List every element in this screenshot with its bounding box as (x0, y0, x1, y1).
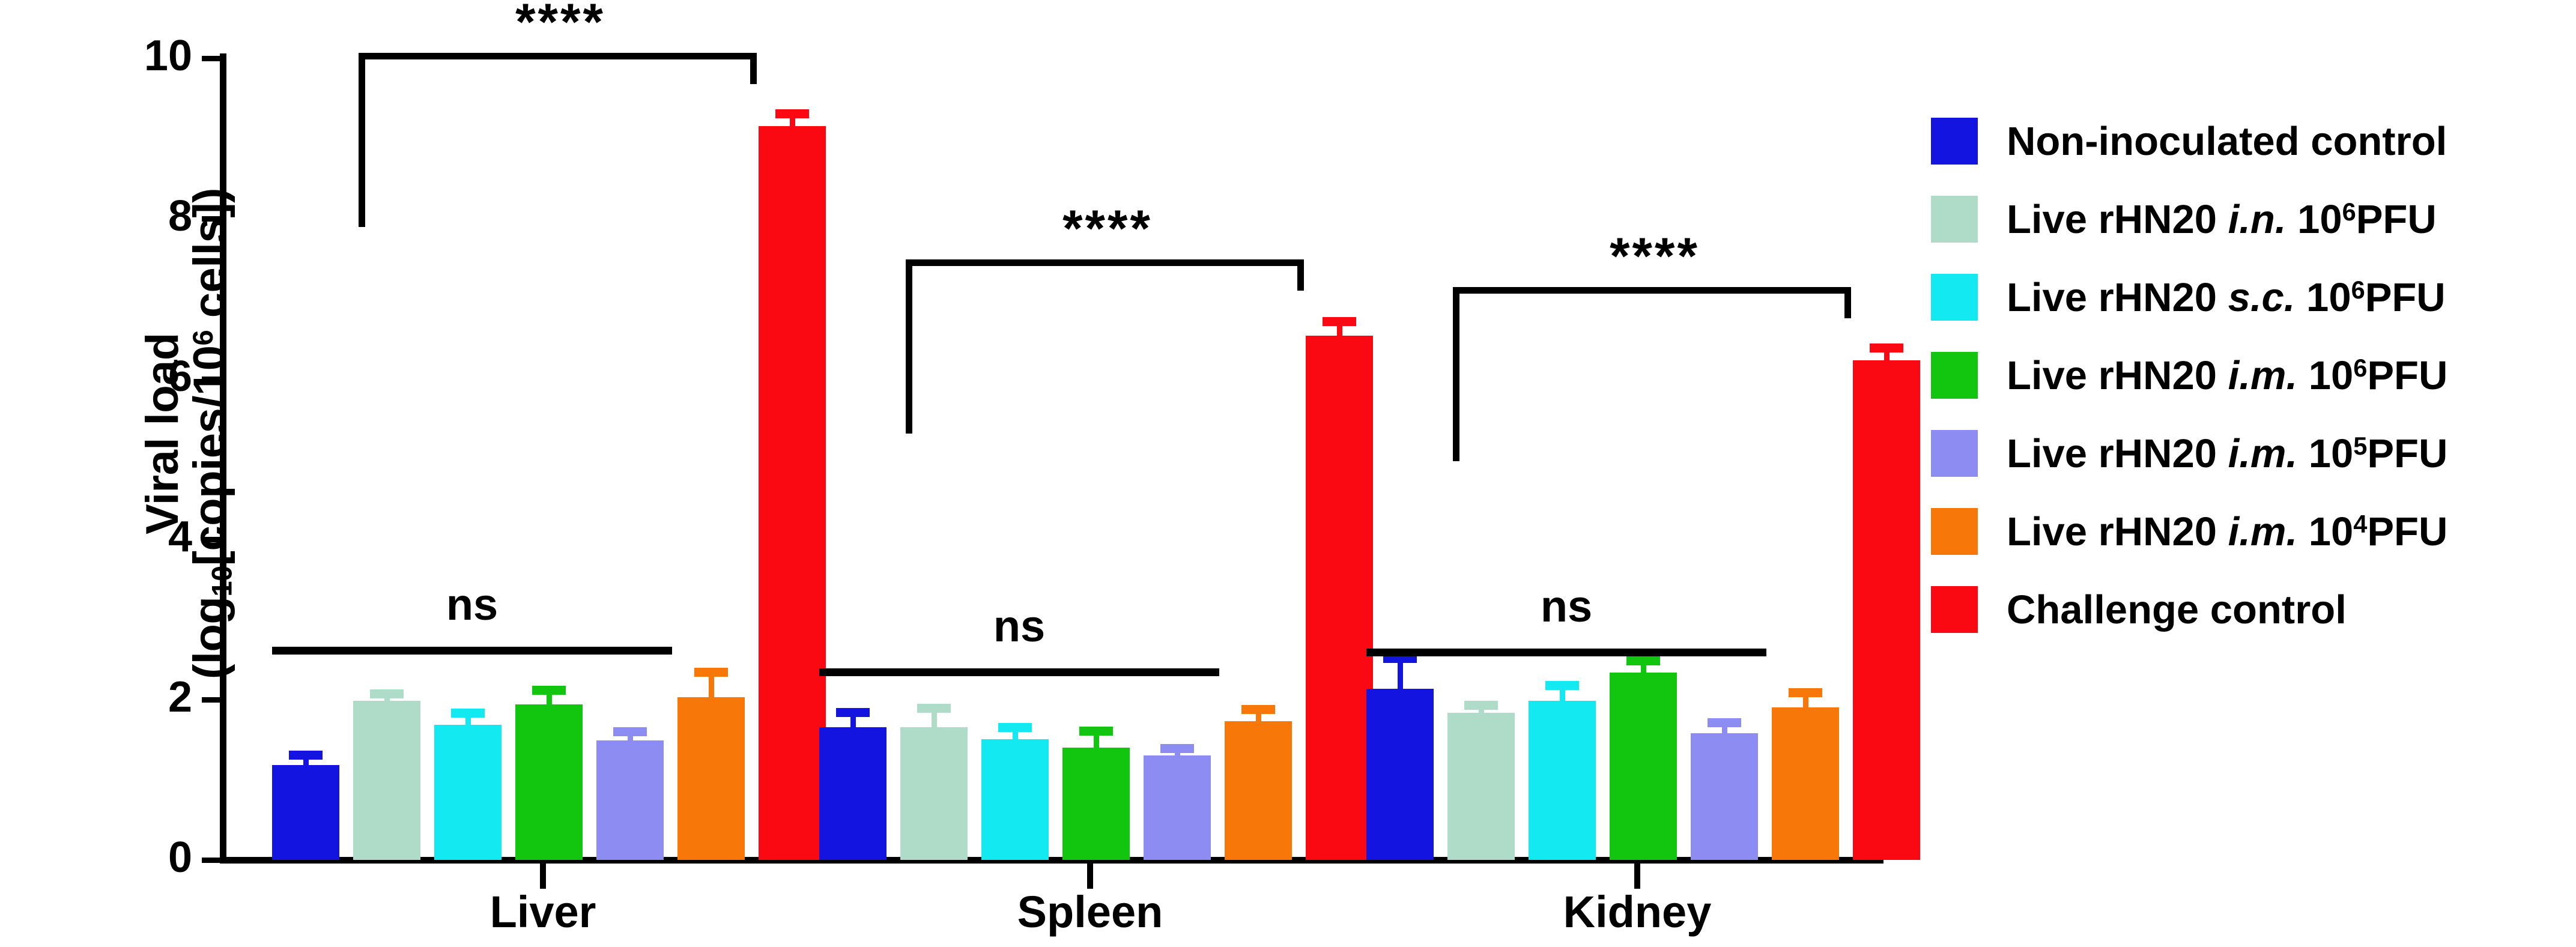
bar-spleen-series-5 (1225, 721, 1292, 860)
y-tick-label-10: 10 (78, 34, 192, 77)
spleen-sig-bracket-right (1297, 259, 1304, 291)
liver-ns-line (272, 647, 672, 655)
bar-spleen-series-2 (981, 739, 1049, 860)
error-cap-liver-series-3 (532, 686, 566, 695)
bar-kidney-series-0 (1366, 689, 1434, 860)
bar-kidney-series-5 (1772, 707, 1839, 860)
legend-swatch-icon-3 (1931, 352, 1978, 399)
legend-item-2[interactable]: Live rHN20 s.c. 106PFU (1931, 258, 2574, 336)
y-tick-label-6: 6 (78, 355, 192, 398)
legend-label-2: Live rHN20 s.c. 106PFU (2007, 277, 2446, 318)
error-bar-liver-series-2 (465, 718, 471, 725)
x-tick-liver (540, 864, 546, 889)
spleen-ns-label: ns (938, 604, 1100, 649)
error-bar-spleen-series-2 (1013, 732, 1018, 739)
x-label-spleen: Spleen (970, 890, 1210, 934)
error-cap-kidney-series-1 (1464, 701, 1498, 710)
liver-sig-bracket-top (359, 53, 757, 59)
legend-swatch-icon-0 (1931, 118, 1978, 165)
bar-liver-series-3 (515, 704, 583, 860)
y-axis-title-line2: (log10[copies/106 cells]) (186, 188, 236, 679)
y-axis-line (220, 53, 226, 864)
x-label-kidney: Kidney (1517, 890, 1757, 934)
error-bar-spleen-series-1 (932, 713, 937, 727)
x-label-liver: Liver (423, 890, 663, 934)
y-tick-2 (202, 697, 220, 703)
error-cap-liver-series-6 (775, 109, 809, 118)
legend-item-6[interactable]: Challenge control (1931, 570, 2574, 649)
legend-item-4[interactable]: Live rHN20 i.m. 105PFU (1931, 414, 2574, 492)
bar-spleen-series-0 (819, 727, 886, 860)
error-cap-liver-series-0 (289, 751, 323, 760)
liver-sig-bracket-left (359, 53, 365, 227)
error-bar-kidney-series-5 (1803, 697, 1808, 707)
liver-sig-bracket-right (750, 53, 757, 84)
bar-liver-series-6 (759, 126, 826, 860)
bar-liver-series-0 (272, 765, 339, 860)
y-tick-10 (202, 56, 220, 61)
error-bar-kidney-series-4 (1722, 727, 1727, 733)
y-tick-6 (202, 377, 220, 382)
error-bar-kidney-series-1 (1479, 710, 1484, 713)
bar-liver-series-5 (677, 697, 745, 860)
legend-label-5: Live rHN20 i.m. 104PFU (2007, 512, 2447, 552)
error-bar-spleen-series-6 (1337, 326, 1342, 336)
y-tick-label-2: 2 (78, 676, 192, 719)
error-cap-spleen-series-6 (1323, 317, 1356, 326)
kidney-ns-label: ns (1485, 584, 1647, 629)
error-bar-kidney-series-2 (1560, 690, 1565, 701)
bar-spleen-series-6 (1306, 336, 1373, 860)
bar-kidney-series-3 (1610, 673, 1677, 860)
error-bar-liver-series-5 (709, 677, 714, 697)
bar-liver-series-4 (596, 740, 664, 860)
legend-item-0[interactable]: Non-inoculated control (1931, 102, 2574, 180)
y-tick-8 (202, 216, 220, 222)
kidney-sig-bracket-top (1453, 287, 1851, 294)
liver-significance-stars: **** (461, 0, 659, 48)
error-bar-spleen-series-0 (850, 717, 856, 727)
bar-spleen-series-3 (1062, 748, 1130, 860)
kidney-sig-bracket-right (1844, 287, 1851, 318)
bar-kidney-series-1 (1447, 713, 1515, 860)
error-cap-liver-series-2 (451, 709, 485, 718)
error-cap-kidney-series-3 (1626, 656, 1660, 665)
legend-swatch-icon-2 (1931, 274, 1978, 321)
bar-kidney-series-4 (1691, 733, 1758, 860)
legend-swatch-icon-6 (1931, 586, 1978, 633)
error-cap-kidney-series-4 (1708, 718, 1741, 727)
spleen-ns-line (819, 668, 1219, 676)
error-cap-liver-series-4 (613, 727, 647, 736)
y-tick-label-8: 8 (78, 195, 192, 238)
kidney-significance-stars: **** (1556, 231, 1754, 282)
legend-swatch-icon-4 (1931, 430, 1978, 477)
bar-liver-series-1 (353, 701, 420, 860)
error-bar-liver-series-1 (384, 698, 390, 701)
legend-swatch-icon-5 (1931, 508, 1978, 555)
legend-item-3[interactable]: Live rHN20 i.m. 106PFU (1931, 336, 2574, 414)
y-tick-0 (202, 858, 220, 863)
legend-label-4: Live rHN20 i.m. 105PFU (2007, 434, 2447, 474)
x-tick-spleen (1087, 864, 1093, 889)
legend-label-3: Live rHN20 i.m. 106PFU (2007, 356, 2447, 396)
bar-liver-series-2 (434, 725, 502, 860)
error-cap-liver-series-5 (694, 668, 728, 677)
legend-label-0: Non-inoculated control (2007, 121, 2447, 162)
spleen-sig-bracket-top (906, 259, 1304, 266)
error-cap-liver-series-1 (370, 689, 404, 698)
error-cap-spleen-series-3 (1079, 727, 1113, 736)
error-bar-liver-series-0 (303, 760, 309, 765)
kidney-sig-bracket-left (1453, 287, 1459, 461)
viral-load-bar-chart: Viral load (log10[copies/106 cells]) 0 2… (0, 0, 2576, 947)
bar-kidney-series-2 (1529, 701, 1596, 860)
spleen-sig-bracket-left (906, 259, 912, 434)
error-bar-kidney-series-6 (1884, 352, 1890, 360)
y-tick-4 (202, 537, 220, 542)
error-cap-spleen-series-4 (1160, 744, 1194, 753)
error-bar-spleen-series-5 (1256, 714, 1261, 721)
error-bar-liver-series-3 (547, 695, 552, 704)
spleen-significance-stars: **** (1008, 203, 1207, 255)
error-cap-kidney-series-6 (1870, 343, 1903, 352)
bar-kidney-series-6 (1853, 360, 1920, 860)
legend-swatch-icon-1 (1931, 196, 1978, 243)
legend-item-5[interactable]: Live rHN20 i.m. 104PFU (1931, 492, 2574, 570)
error-bar-kidney-series-0 (1398, 663, 1403, 689)
legend-label-1: Live rHN20 i.n. 106PFU (2007, 199, 2437, 240)
error-cap-kidney-series-2 (1545, 681, 1579, 690)
error-bar-spleen-series-4 (1175, 753, 1180, 755)
x-tick-kidney (1634, 864, 1640, 889)
error-cap-spleen-series-1 (917, 704, 951, 713)
error-cap-spleen-series-5 (1241, 705, 1275, 714)
legend-label-6: Challenge control (2007, 590, 2347, 630)
error-cap-kidney-series-5 (1789, 688, 1822, 697)
error-bar-liver-series-6 (790, 118, 795, 126)
error-cap-spleen-series-0 (836, 708, 870, 717)
y-tick-label-0: 0 (78, 836, 192, 879)
error-bar-spleen-series-3 (1094, 736, 1099, 748)
bar-spleen-series-4 (1144, 755, 1211, 860)
error-bar-kidney-series-3 (1641, 665, 1646, 673)
legend-item-1[interactable]: Live rHN20 i.n. 106PFU (1931, 180, 2574, 258)
liver-ns-label: ns (391, 582, 553, 627)
kidney-ns-line (1366, 649, 1766, 656)
y-tick-label-4: 4 (78, 515, 192, 558)
error-cap-spleen-series-2 (998, 723, 1032, 732)
legend: Non-inoculated controlLive rHN20 i.n. 10… (1931, 102, 2574, 649)
error-bar-liver-series-4 (628, 736, 633, 740)
bar-spleen-series-1 (900, 727, 968, 860)
